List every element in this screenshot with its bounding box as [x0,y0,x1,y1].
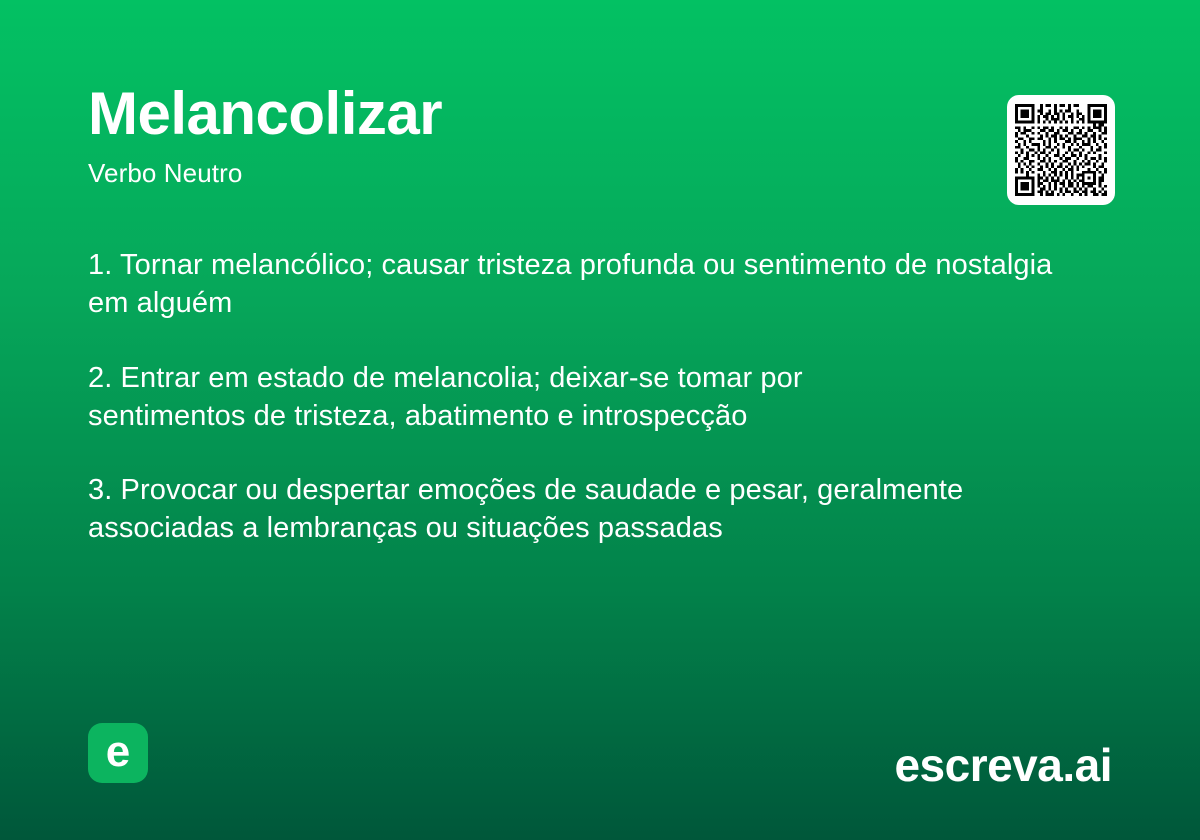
page-title: Melancolizar [88,82,1112,145]
definition-item: 3. Provocar ou despertar emoções de saud… [88,471,1048,548]
escreva-logo[interactable]: e [88,723,148,783]
brand-wordmark: escreva.ai [894,742,1112,788]
definition-item: 1. Tornar melancólico; causar tristeza p… [88,246,1098,323]
qr-code-image [1015,104,1107,196]
qr-code[interactable] [1007,95,1115,205]
definition-item: 2. Entrar em estado de melancolia; deixa… [88,359,968,436]
logo-letter-e: e [106,730,130,774]
word-class-subtitle: Verbo Neutro [88,159,1112,188]
card-header: Melancolizar Verbo Neutro [88,82,1112,188]
definitions-list: 1. Tornar melancólico; causar tristeza p… [88,246,1110,548]
word-card: Melancolizar Verbo Neutro [0,0,1200,840]
